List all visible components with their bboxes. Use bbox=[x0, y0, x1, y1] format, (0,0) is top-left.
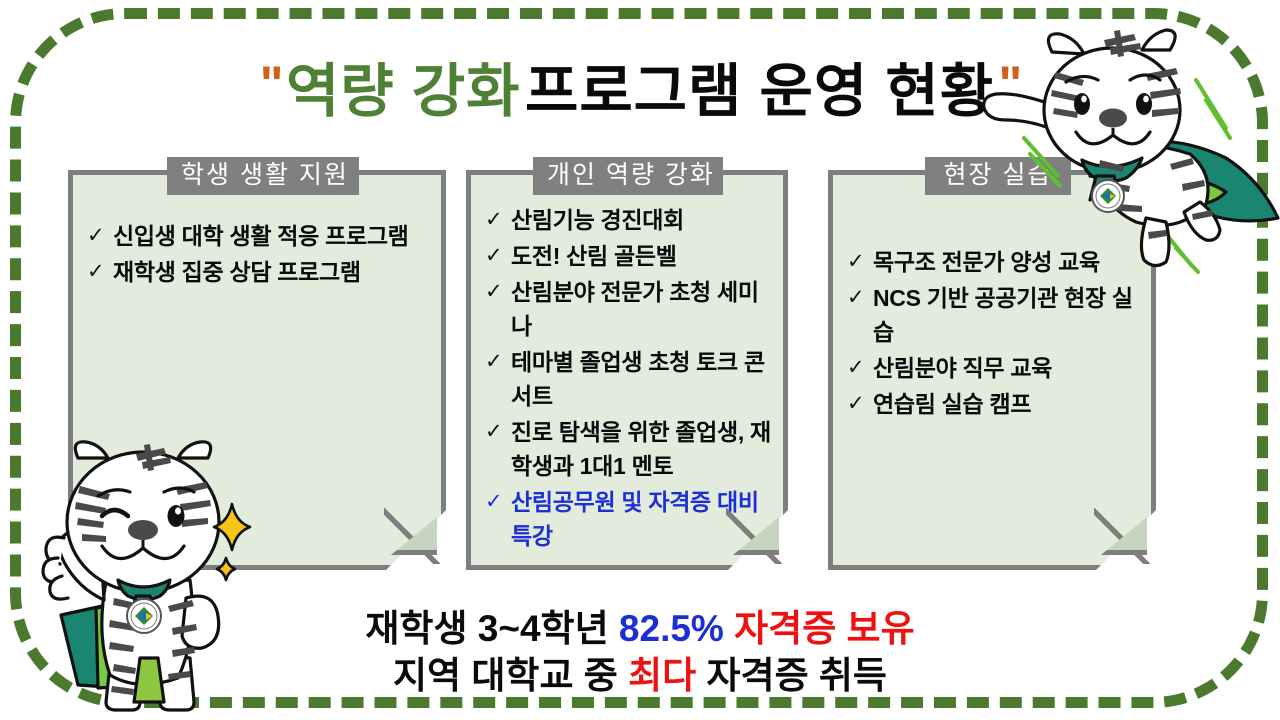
check-icon: ✓ bbox=[87, 219, 113, 253]
check-icon: ✓ bbox=[87, 255, 113, 289]
title-green-text: 역량 강화 bbox=[286, 59, 521, 124]
list-item-label: 신입생 대학 생활 적응 프로그램 bbox=[113, 219, 409, 253]
card-body-student-life: ✓ 신입생 대학 생활 적응 프로그램 ✓ 재학생 집중 상담 프로그램 bbox=[73, 219, 441, 291]
footer-line2-part2: 자격증 취득 bbox=[696, 655, 887, 696]
footer-line2-part1: 지역 대학교 중 bbox=[393, 655, 628, 696]
program-card-personal-competency: 개인 역량 강화 ✓ 산림기능 경진대회 ✓ 도전! 산림 골든벨 ✓ 산림분야… bbox=[466, 170, 788, 570]
check-icon: ✓ bbox=[485, 485, 511, 519]
list-item-label: 도전! 산림 골든벨 bbox=[511, 239, 677, 273]
list-item-label: 산림기능 경진대회 bbox=[511, 203, 684, 237]
slide-root: " 역량 강화 프로그램 운영 현황 " 학생 생활 지원 ✓ 신입생 대학 생… bbox=[0, 0, 1280, 720]
list-item: ✓ 연습림 실습 캠프 bbox=[847, 387, 1141, 421]
footer-line1-part2: 자격증 보유 bbox=[724, 608, 915, 649]
footer-line1-part1: 재학생 3~4학년 bbox=[365, 608, 619, 649]
check-icon: ✓ bbox=[485, 415, 511, 449]
check-icon: ✓ bbox=[847, 351, 873, 385]
list-item: ✓ 재학생 집중 상담 프로그램 bbox=[87, 255, 431, 289]
check-icon: ✓ bbox=[485, 275, 511, 309]
list-item-label: 테마별 졸업생 초청 토크 콘서트 bbox=[511, 345, 773, 413]
list-item-label: 재학생 집중 상담 프로그램 bbox=[113, 255, 361, 289]
check-icon: ✓ bbox=[485, 203, 511, 237]
check-icon: ✓ bbox=[485, 239, 511, 273]
title-open-quote: " bbox=[260, 56, 282, 112]
list-item-label: 진로 탐색을 위한 졸업생, 재학생과 1대1 멘토 bbox=[511, 415, 773, 483]
tiger-mascot-pointing bbox=[18, 430, 268, 720]
card-header-personal-competency: 개인 역량 강화 bbox=[533, 157, 723, 195]
check-icon: ✓ bbox=[847, 387, 873, 421]
check-icon: ✓ bbox=[847, 245, 873, 279]
list-item-label: 연습림 실습 캠프 bbox=[873, 387, 1031, 421]
list-item: ✓ 산림분야 전문가 초청 세미나 bbox=[485, 275, 773, 343]
list-item-label: 산림분야 직무 교육 bbox=[873, 351, 1052, 385]
card-header-student-life: 학생 생활 지원 bbox=[167, 157, 359, 195]
list-item: ✓ 산림분야 직무 교육 bbox=[847, 351, 1141, 385]
footer-percent-value: 82.5% bbox=[619, 608, 724, 649]
title-black-text: 프로그램 운영 현황 bbox=[525, 59, 994, 124]
list-item-label: NCS 기반 공공기관 현장 실습 bbox=[873, 281, 1141, 349]
tiger-mascot-flying bbox=[930, 8, 1280, 278]
list-item: ✓ 테마별 졸업생 초청 토크 콘서트 bbox=[485, 345, 773, 413]
list-item: ✓ 신입생 대학 생활 적응 프로그램 bbox=[87, 219, 431, 253]
check-icon: ✓ bbox=[485, 345, 511, 379]
list-item: ✓ 산림기능 경진대회 bbox=[485, 203, 773, 237]
check-icon: ✓ bbox=[847, 281, 873, 315]
footer-highlight-value: 최다 bbox=[628, 655, 696, 696]
list-item: ✓ NCS 기반 공공기관 현장 실습 bbox=[847, 281, 1141, 349]
list-item: ✓ 도전! 산림 골든벨 bbox=[485, 239, 773, 273]
card-body-personal-competency: ✓ 산림기능 경진대회 ✓ 도전! 산림 골든벨 ✓ 산림분야 전문가 초청 세… bbox=[471, 203, 783, 555]
list-item-label: 산림분야 전문가 초청 세미나 bbox=[511, 275, 773, 343]
list-item: ✓ 진로 탐색을 위한 졸업생, 재학생과 1대1 멘토 bbox=[485, 415, 773, 483]
